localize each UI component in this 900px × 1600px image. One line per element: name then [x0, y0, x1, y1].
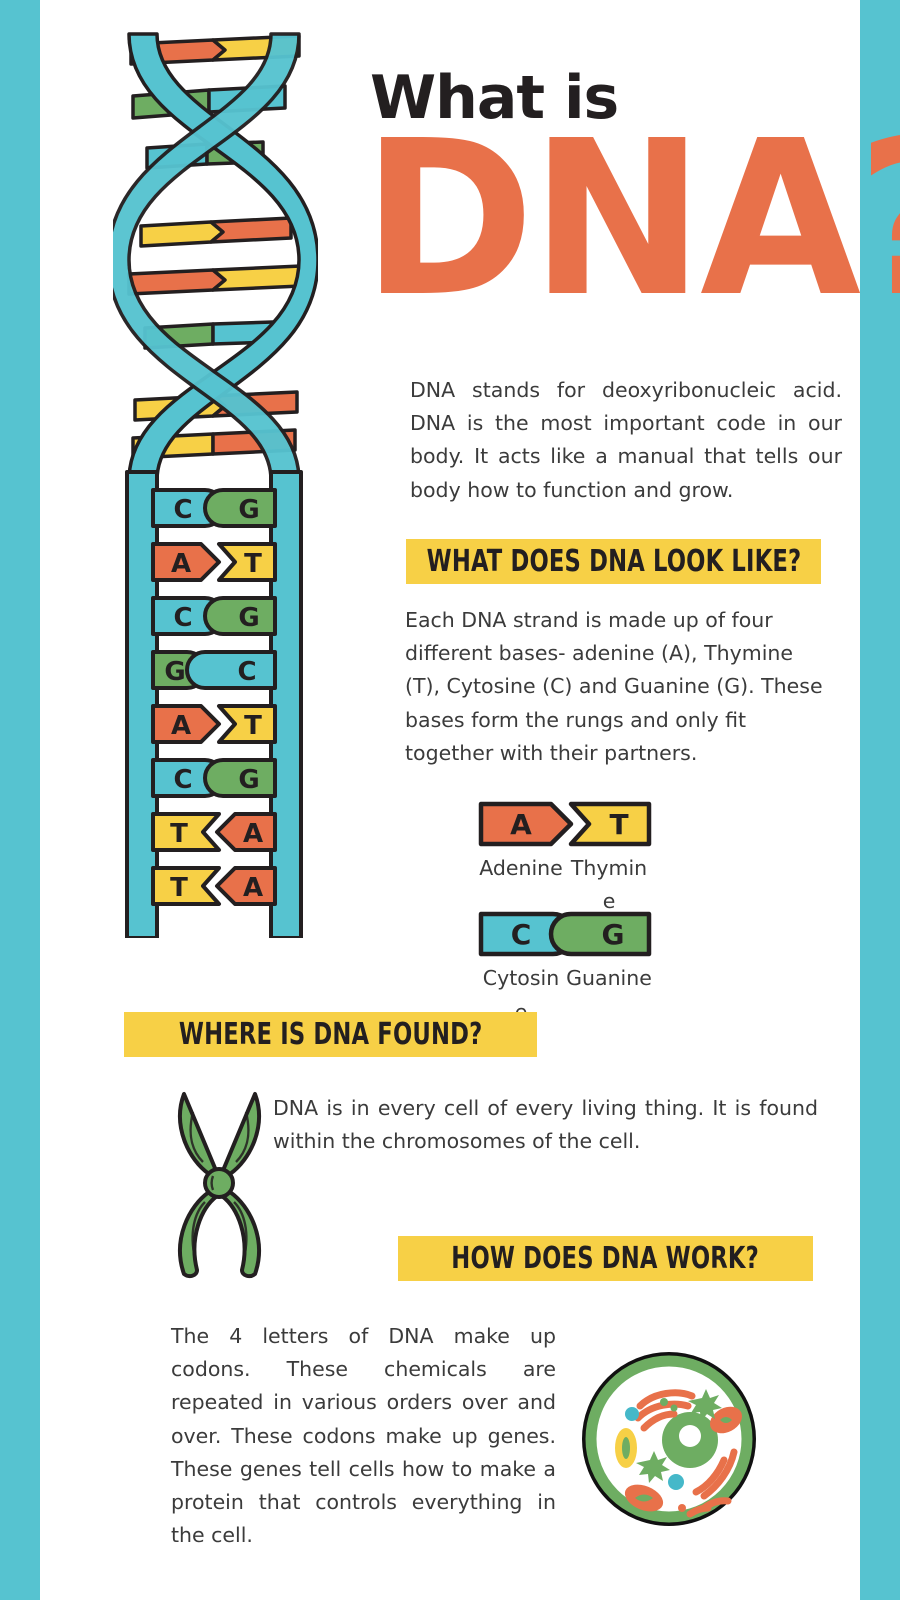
svg-text:A: A: [171, 711, 191, 741]
base-name-guanine: Guanine: [565, 962, 653, 1028]
banner-how-does-dna-work: HOW DOES DNA WORK?: [398, 1236, 813, 1281]
svg-text:T: T: [170, 873, 188, 903]
svg-text:C: C: [173, 603, 192, 633]
infographic-page: C G A T C G: [0, 0, 900, 1600]
banner-where-is-dna-found: WHERE IS DNA FOUND?: [124, 1012, 537, 1057]
svg-text:C: C: [173, 765, 192, 795]
svg-text:A: A: [243, 819, 263, 849]
content-canvas: C G A T C G: [40, 0, 860, 1600]
paragraph-how-does-dna-work: The 4 letters of DNA make up codons. The…: [171, 1320, 556, 1552]
ladder-rung: A T: [153, 544, 275, 580]
svg-text:C: C: [173, 495, 192, 525]
svg-text:G: G: [602, 918, 625, 951]
ladder-rung: T A: [153, 868, 275, 904]
svg-text:T: T: [244, 711, 262, 741]
base-pair-at: A T: [477, 800, 653, 848]
paragraph-where-is-dna-found: DNA is in every cell of every living thi…: [273, 1092, 818, 1158]
svg-text:C: C: [237, 657, 256, 687]
svg-text:G: G: [164, 657, 185, 687]
svg-text:G: G: [238, 765, 259, 795]
animal-cell-icon: [578, 1348, 760, 1530]
paragraph-what-does-dna-look-like: Each DNA strand is made up of four diffe…: [405, 604, 825, 770]
base-name-thymine: Thymine: [565, 852, 653, 918]
intro-paragraph: DNA stands for deoxyribonucleic acid. DN…: [410, 374, 842, 507]
page-title-line2: DNA?: [362, 128, 900, 312]
ladder-rung: C G: [153, 490, 275, 526]
banner-what-does-dna-look-like: WHAT DOES DNA LOOK LIKE?: [406, 539, 821, 584]
svg-text:G: G: [238, 495, 259, 525]
base-pair-at-labels: Adenine Thymine: [477, 852, 653, 918]
base-name-adenine: Adenine: [477, 852, 565, 918]
banner-label: WHAT DOES DNA LOOK LIKE?: [426, 544, 801, 579]
svg-text:A: A: [243, 873, 263, 903]
ladder-rung: G C: [153, 652, 275, 688]
ladder-rung: C G: [153, 760, 275, 796]
svg-text:A: A: [171, 549, 191, 579]
banner-label: HOW DOES DNA WORK?: [452, 1241, 760, 1276]
svg-text:A: A: [510, 808, 532, 841]
ladder-rung: C G: [153, 598, 275, 634]
svg-text:G: G: [238, 603, 259, 633]
base-pair-legend: A T Adenine Thymine C G: [477, 800, 653, 1029]
svg-text:T: T: [170, 819, 188, 849]
svg-text:C: C: [511, 918, 532, 951]
ladder-rung: A T: [153, 706, 275, 742]
ladder-rung: T A: [153, 814, 275, 850]
dna-double-helix-illustration: C G A T C G: [113, 28, 318, 938]
svg-text:T: T: [244, 549, 262, 579]
base-pair-cg: C G: [477, 910, 653, 958]
svg-text:T: T: [609, 808, 628, 841]
banner-label: WHERE IS DNA FOUND?: [179, 1017, 483, 1052]
chromosome-icon: [167, 1082, 272, 1280]
